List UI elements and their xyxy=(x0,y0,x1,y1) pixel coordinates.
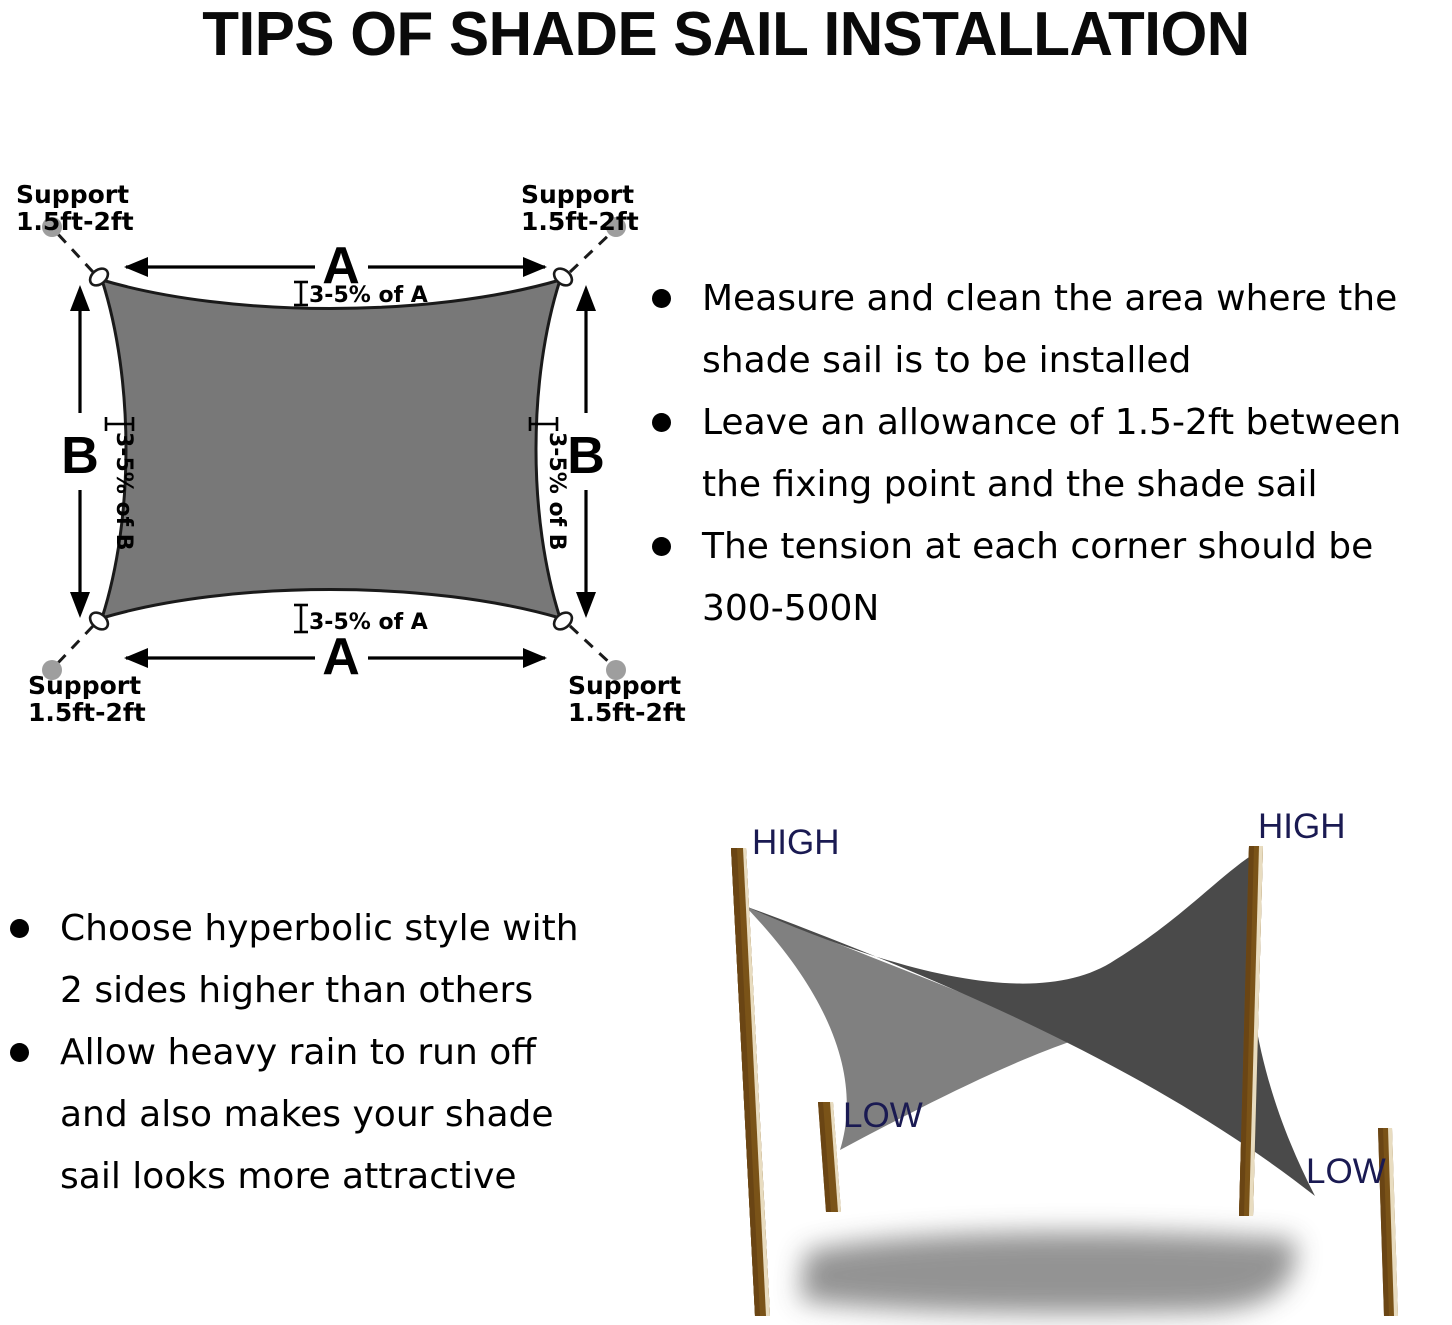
post-left-low xyxy=(818,1102,841,1212)
label-low-right: LOW xyxy=(1306,1152,1386,1191)
ground-shadow xyxy=(800,1232,1296,1313)
hyperbolic-sail-diagram: HIGH HIGH LOW LOW xyxy=(0,0,1452,1325)
label-high-right: HIGH xyxy=(1258,807,1346,846)
label-high-left: HIGH xyxy=(752,823,840,862)
label-low-left: LOW xyxy=(843,1096,923,1135)
